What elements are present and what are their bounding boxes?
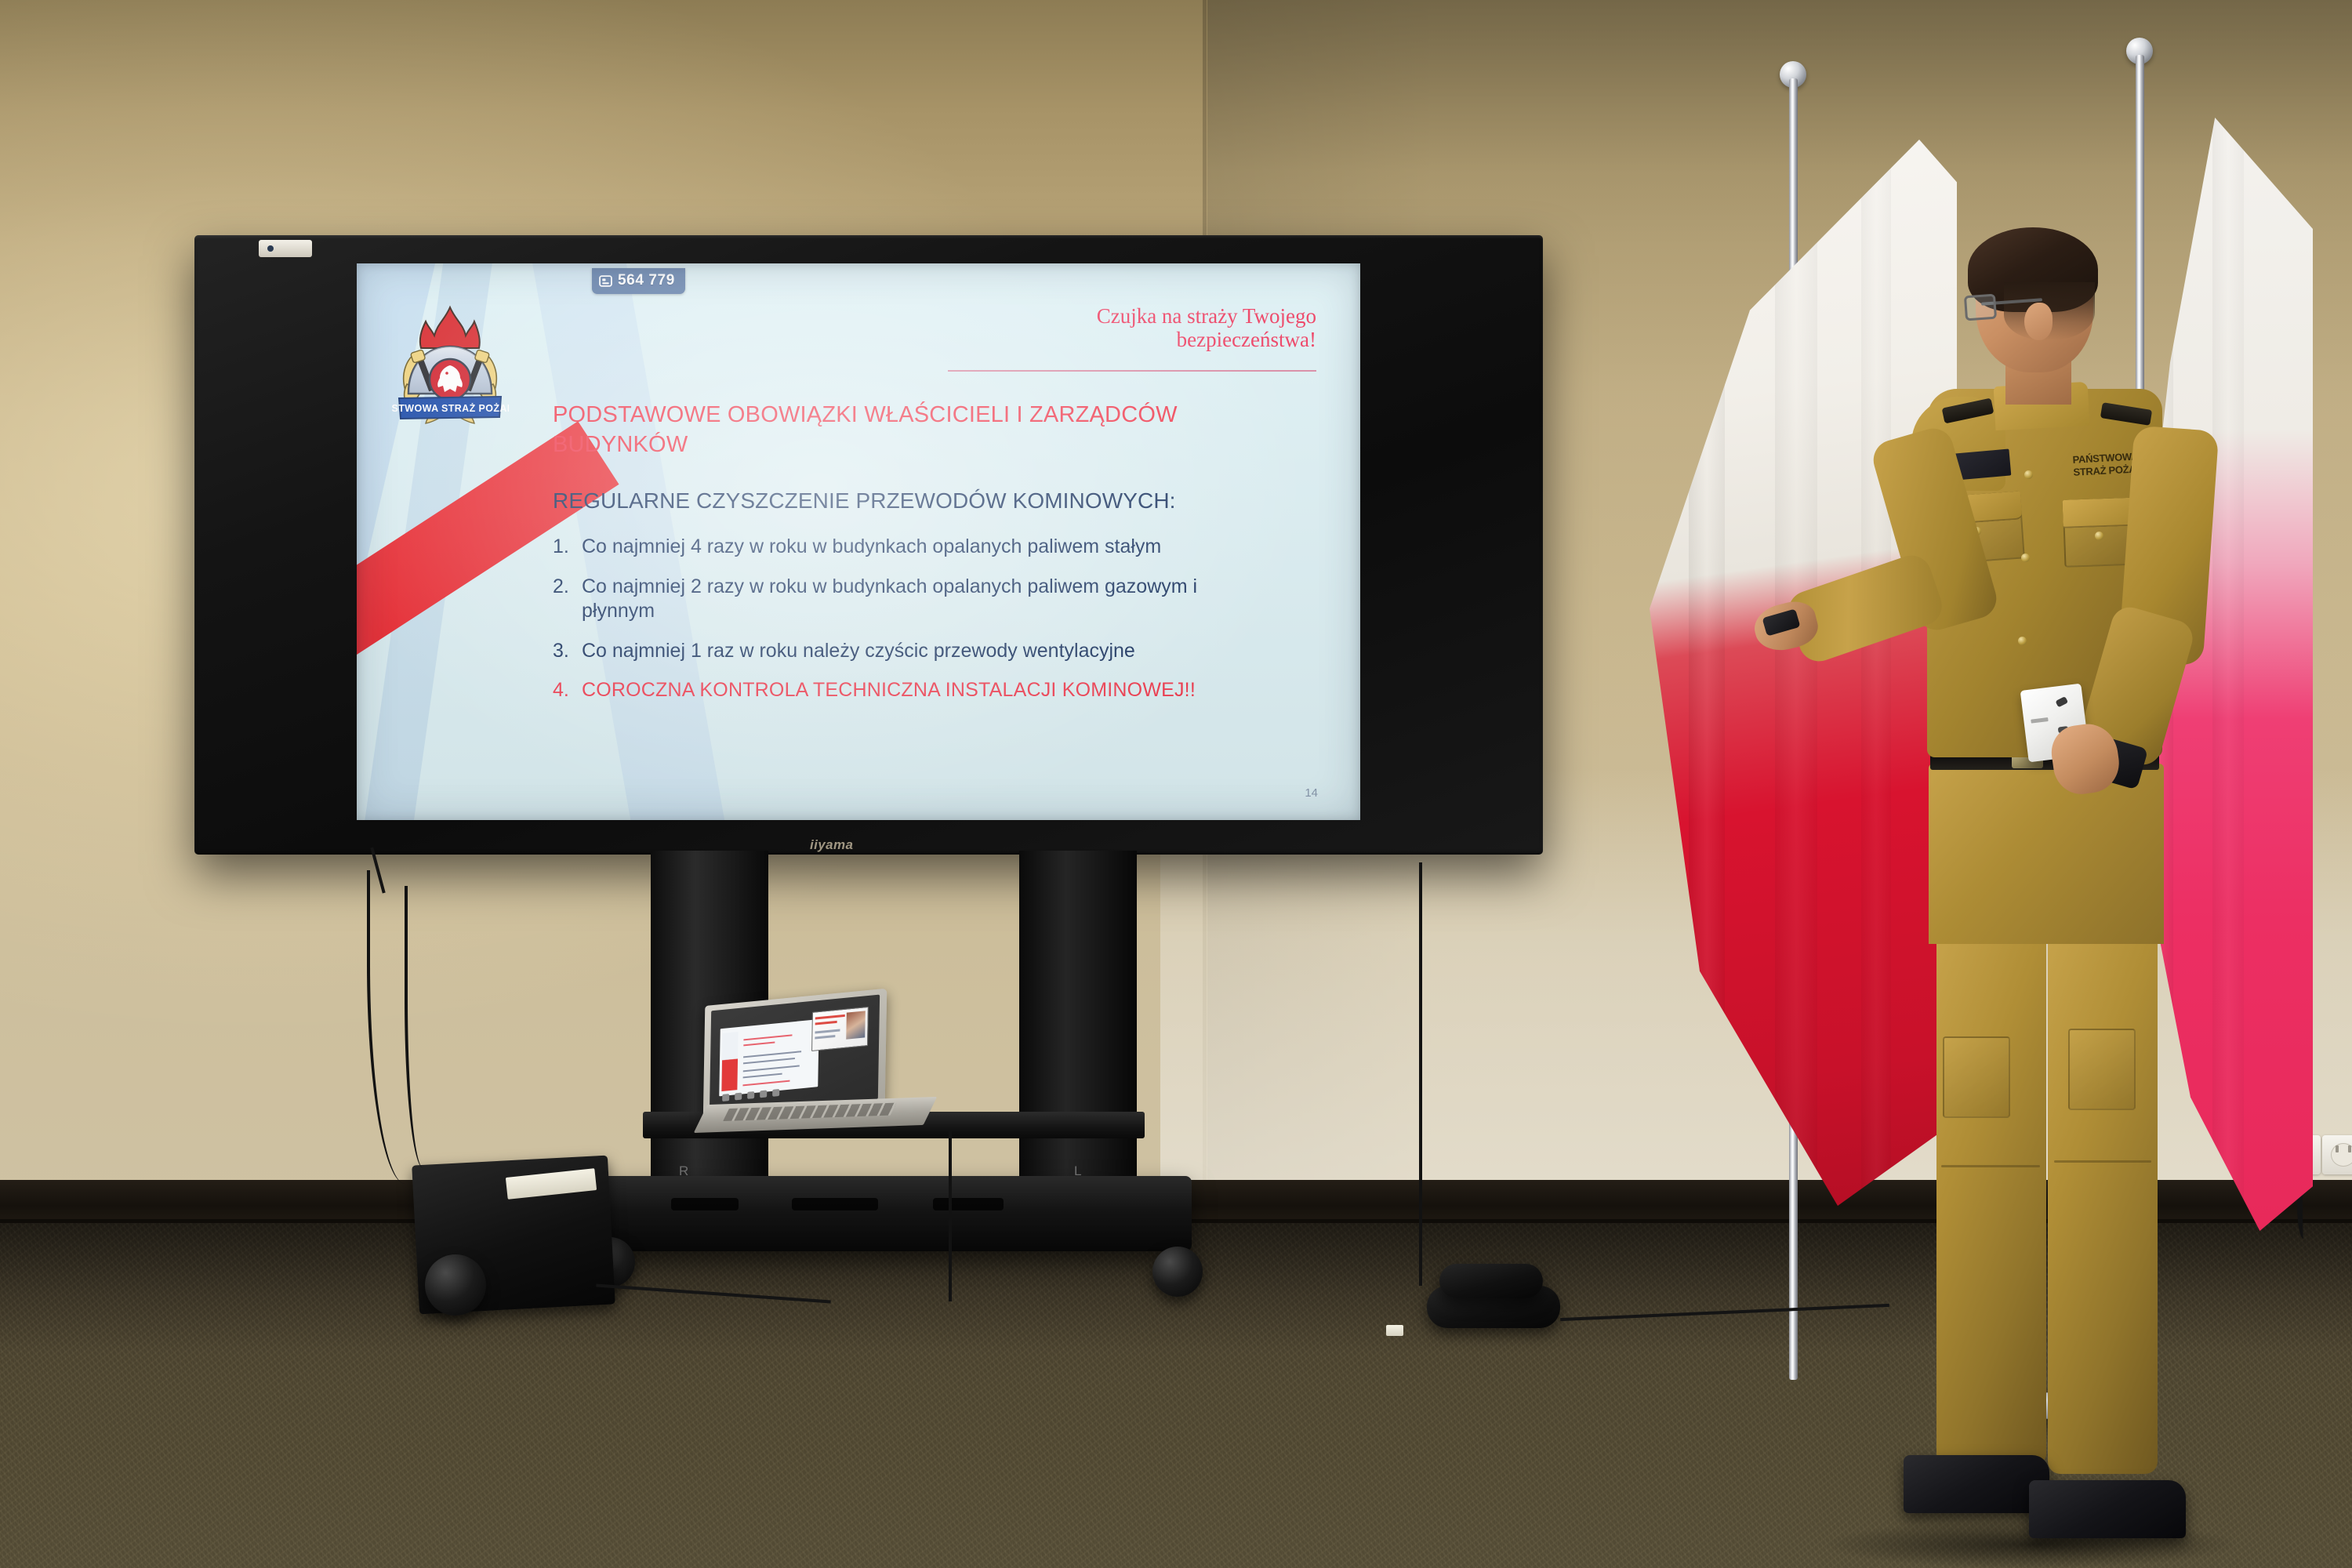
floor-small-marker xyxy=(1386,1325,1403,1336)
list-item-number: 1. xyxy=(553,535,573,560)
leg-left xyxy=(1936,925,2046,1466)
stand-caster-right xyxy=(1152,1247,1203,1297)
presentation-slide: PAŃSTWOWA STRAŻ POŻARNA 564 779 Czujka n… xyxy=(357,263,1360,820)
panstwowa-straz-pozarna-emblem: PAŃSTWOWA STRAŻ POŻARNA xyxy=(391,303,509,428)
tagline-line-1: Czujka na straży Twojego xyxy=(971,304,1316,328)
list-item-number: 4. xyxy=(553,678,573,703)
list-item-number: 2. xyxy=(553,575,573,624)
stand-cable-drop xyxy=(949,1129,972,1301)
stand-marker-right: L xyxy=(1074,1163,1081,1179)
socket-pin xyxy=(2348,1145,2351,1152)
slide-tagline: Czujka na straży Twojego bezpieczeństwa! xyxy=(971,304,1316,351)
knee-seam-left xyxy=(1941,1165,2040,1167)
laptop-slide-line xyxy=(743,1058,795,1064)
boot-left xyxy=(1904,1455,2049,1513)
list-item-text: Co najmniej 4 razy w roku w budynkach op… xyxy=(582,535,1161,560)
slide-title: PODSTAWOWE OBOWIĄZKI WŁAŚCICIELI I ZARZĄ… xyxy=(553,401,1180,459)
thumb-line xyxy=(815,1021,837,1025)
floor-cable-coil xyxy=(1439,1264,1543,1298)
webcam-icon xyxy=(259,240,312,257)
uniform-button xyxy=(2024,470,2033,479)
laptop-slide-line xyxy=(743,1041,775,1046)
svg-text:PAŃSTWOWA STRAŻ POŻARNA: PAŃSTWOWA STRAŻ POŻARNA xyxy=(391,402,509,414)
toolbar-icon[interactable] xyxy=(747,1091,754,1099)
tv-stand-base xyxy=(596,1176,1192,1251)
leg-right xyxy=(2048,925,2158,1474)
laptop-keyboard[interactable] xyxy=(723,1103,896,1121)
slide-page-number: 14 xyxy=(1305,786,1318,800)
cargo-pocket-right xyxy=(2068,1029,2136,1110)
list-item: 1. Co najmniej 4 razy w roku w budynkach… xyxy=(553,535,1211,560)
socket-pin xyxy=(2336,1145,2339,1152)
laptop-next-slide-thumbnail[interactable] xyxy=(811,1007,869,1051)
camera-lens xyxy=(267,245,274,252)
thumb-image xyxy=(846,1011,866,1039)
laptop-current-slide xyxy=(719,1019,818,1096)
laptop-screen[interactable] xyxy=(710,995,880,1116)
toolbar-icon[interactable] xyxy=(760,1090,767,1098)
detector-label xyxy=(2031,717,2048,724)
list-item-highlighted: 4. COROCZNA KONTROLA TECHNICZNA INSTALAC… xyxy=(553,678,1211,703)
knee-seam-right xyxy=(2054,1160,2151,1163)
tagline-line-2: bezpieczeństwa! xyxy=(971,328,1316,351)
list-item-number: 3. xyxy=(553,639,573,664)
list-item: 3. Co najmniej 1 raz w roku należy czyśc… xyxy=(553,639,1211,664)
slide-code-number: 564 779 xyxy=(618,272,675,289)
toolbar-icon[interactable] xyxy=(772,1089,779,1097)
slide-code-badge: 564 779 xyxy=(592,268,685,294)
laptop-slide-line xyxy=(743,1073,782,1079)
uniform-button xyxy=(2021,554,2030,562)
toolbar-icon[interactable] xyxy=(722,1094,729,1102)
wall-socket-2[interactable] xyxy=(2322,1135,2352,1174)
thumb-line xyxy=(815,1029,840,1033)
app-window-icon xyxy=(599,274,612,288)
laptop-slide-flag-graphic xyxy=(721,1032,738,1091)
slide-subheading: REGULARNE CZYSZCZENIE PRZEWODÓW KOMINOWY… xyxy=(553,488,1203,514)
equipment-caster xyxy=(425,1254,486,1316)
glasses-lens xyxy=(1964,294,1997,321)
display-brand-label: iiyama xyxy=(810,837,853,853)
stand-marker-left: R xyxy=(679,1163,688,1179)
boot-right xyxy=(2029,1480,2186,1538)
ear xyxy=(2024,303,2053,340)
list-item: 2. Co najmniej 2 razy w roku w budynkach… xyxy=(553,575,1211,624)
flag-fold xyxy=(1775,140,1817,1206)
display-cable-right xyxy=(1419,862,1450,1286)
thumb-line xyxy=(815,1035,835,1040)
trousers-hip xyxy=(1929,764,2164,944)
cargo-pocket-left xyxy=(1943,1036,2010,1118)
list-item-text: COROCZNA KONTROLA TECHNICZNA INSTALACJI … xyxy=(582,678,1196,703)
tagline-divider xyxy=(948,370,1316,372)
slide-ordered-list: 1. Co najmniej 4 razy w roku w budynkach… xyxy=(553,535,1211,718)
list-item-text: Co najmniej 2 razy w roku w budynkach op… xyxy=(582,575,1211,624)
detector-vent xyxy=(2056,696,2069,707)
uniform-button xyxy=(2018,637,2027,645)
laptop-slide-line xyxy=(742,1080,789,1087)
base-slot xyxy=(671,1198,739,1210)
list-item-text: Co najmniej 1 raz w roku należy czyścic … xyxy=(582,639,1135,664)
pocket-button xyxy=(2095,532,2103,540)
presenter-firefighter: PAŃSTWOWA STRAŻ POŻARNA xyxy=(1819,235,2258,1568)
thumb-line xyxy=(815,1014,845,1020)
laptop-slide-line xyxy=(743,1065,800,1072)
toolbar-icon[interactable] xyxy=(735,1093,742,1101)
laptop-slide-line xyxy=(743,1051,801,1058)
display-screen[interactable]: PAŃSTWOWA STRAŻ POŻARNA 564 779 Czujka n… xyxy=(357,263,1360,820)
base-slot xyxy=(792,1198,878,1210)
laptop-slide-line xyxy=(743,1034,792,1040)
photo-scene: iiyama xyxy=(0,0,2352,1568)
